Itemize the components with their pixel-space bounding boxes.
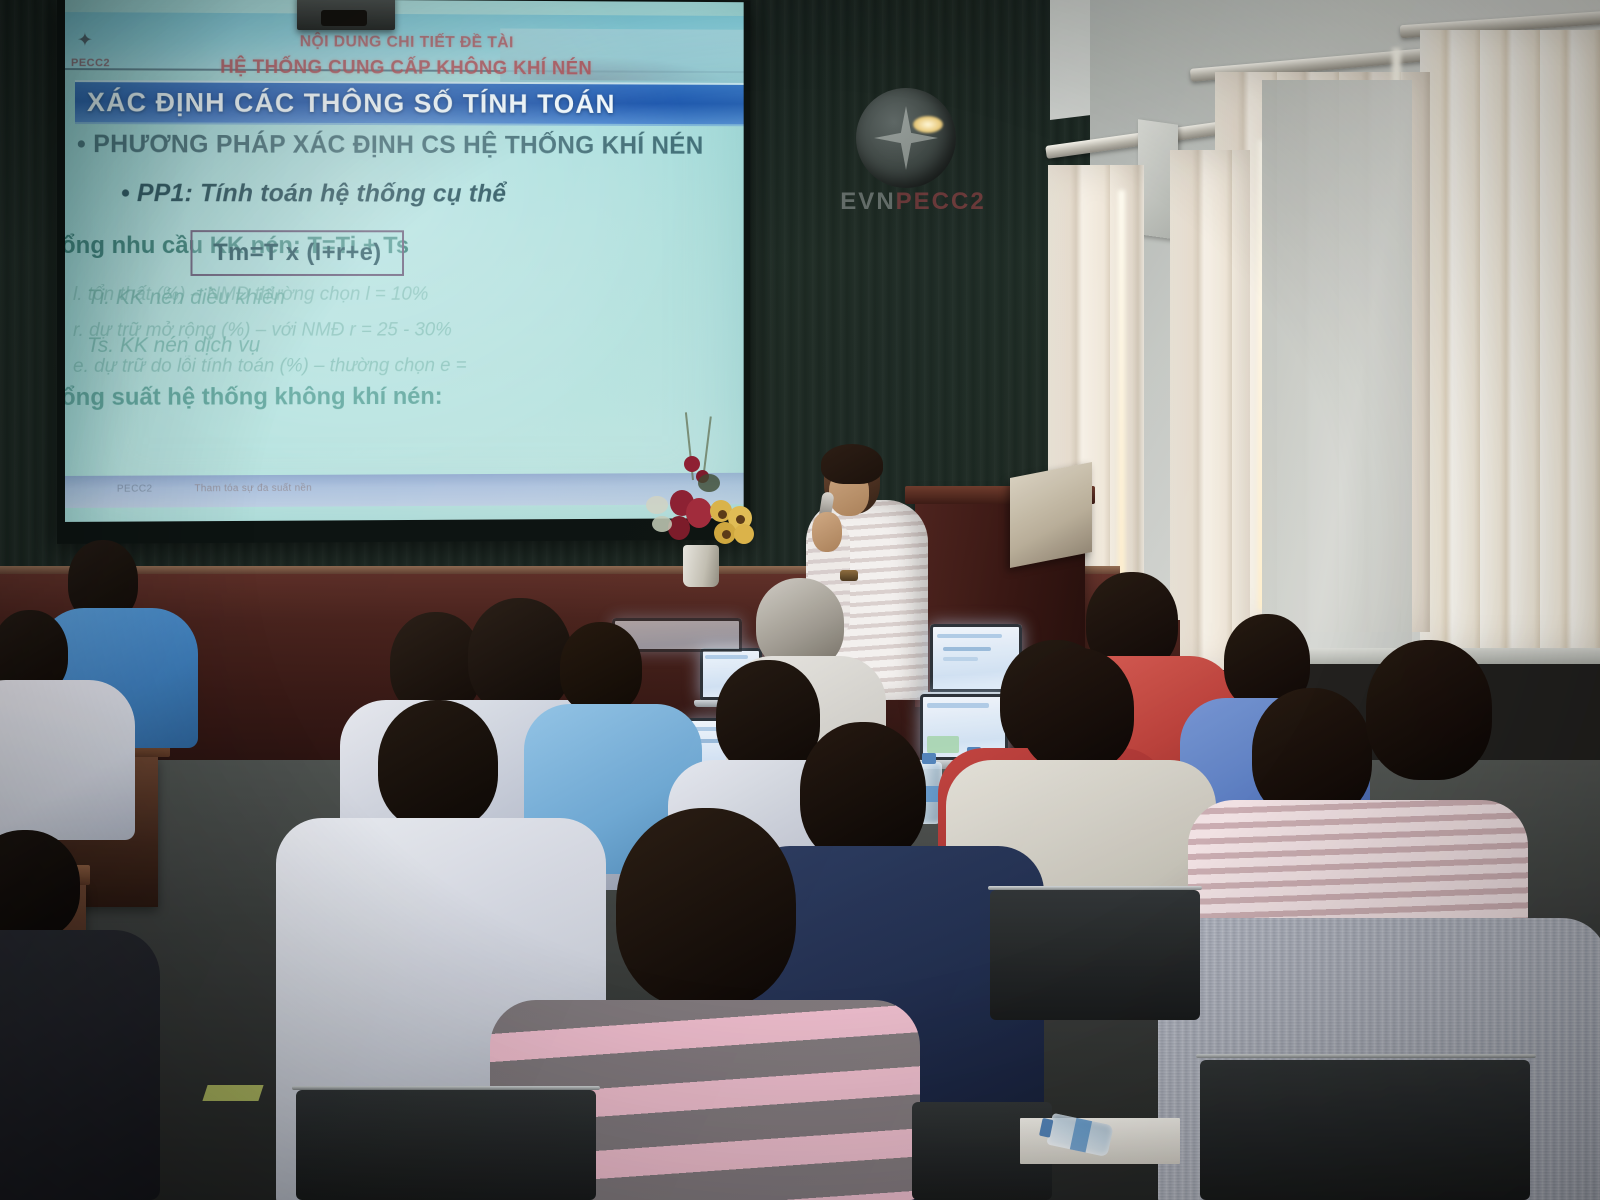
slide-title-bar: XÁC ĐỊNH CÁC THÔNG SỐ TÍNH TOÁN — [75, 80, 744, 126]
floor-tape-marker — [202, 1085, 263, 1101]
wall-logo-pecc2: PECC2 — [896, 188, 986, 215]
presentation-room-photo: EVNPECC2 ✦ PECC2 NỘI DUNG CHI TIẾT ĐỀ TÀ… — [0, 0, 1600, 1200]
ceiling-projector — [297, 0, 395, 30]
chair-back-front-left — [296, 1090, 596, 1200]
slide-formula: Tm=T x (l+r+e) — [213, 239, 381, 267]
slide-footer-left: PECC2 — [117, 484, 153, 495]
wall-pillar — [1262, 80, 1412, 655]
slide-bullet-2: • PP1: Tính toán hệ thống cụ thể — [121, 179, 744, 209]
presenter-hair — [821, 444, 883, 484]
flower-bouquet — [640, 412, 760, 552]
presenter-watch — [840, 570, 858, 581]
chair-rim-front-right — [1196, 1054, 1536, 1058]
slide-param-1: l. tổn thất (%) – NMĐ thường chọn l = 10… — [73, 284, 428, 306]
window-light-gap-3 — [1118, 190, 1125, 610]
slide-body: • PHƯƠNG PHÁP XÁC ĐỊNH CS HỆ THỐNG KHÍ N… — [65, 124, 744, 286]
window-blinds-far — [1420, 30, 1600, 650]
logo-glint — [913, 116, 943, 133]
slide-header-line2: HỆ THỐNG CUNG CẤP KHÔNG KHÍ NÉN — [65, 56, 744, 81]
chair-rim-front-left — [292, 1086, 600, 1090]
slide-bullet-6: ổng suất hệ thống không khí nén: — [65, 382, 740, 412]
presenter-hand — [812, 512, 842, 552]
slide-header-band: ✦ PECC2 NỘI DUNG CHI TIẾT ĐỀ TÀI HỆ THỐN… — [65, 12, 744, 73]
evn-pecc2-wall-logo: EVNPECC2 — [818, 88, 1008, 213]
chair-back-right — [990, 890, 1200, 1020]
wall-logo-text: EVNPECC2 — [818, 188, 1008, 216]
chair-back-front-right — [1200, 1060, 1530, 1200]
slide-title: XÁC ĐỊNH CÁC THÔNG SỐ TÍNH TOÁN — [87, 87, 616, 120]
slide-footer-right: Tham tóa sự đa suất nền — [194, 483, 312, 495]
slide-formula-box: Tm=T x (l+r+e) — [190, 230, 404, 276]
slide-param-3: e. dự trữ do lỗi tính toán (%) – thường … — [73, 355, 467, 378]
wall-logo-evn: EVN — [840, 188, 895, 215]
slide-param-2: r. dự trữ mở rộng (%) – với NMĐ r = 25 -… — [73, 320, 452, 342]
window-blinds-narrow — [1170, 150, 1250, 670]
chair-rim-right — [988, 886, 1202, 890]
slide-bullet-1: • PHƯƠNG PHÁP XÁC ĐỊNH CS HỆ THỐNG KHÍ N… — [77, 130, 744, 161]
podium-angled-panel — [1010, 462, 1092, 568]
slide-header-line1: NỘI DUNG CHI TIẾT ĐỀ TÀI — [65, 32, 744, 53]
